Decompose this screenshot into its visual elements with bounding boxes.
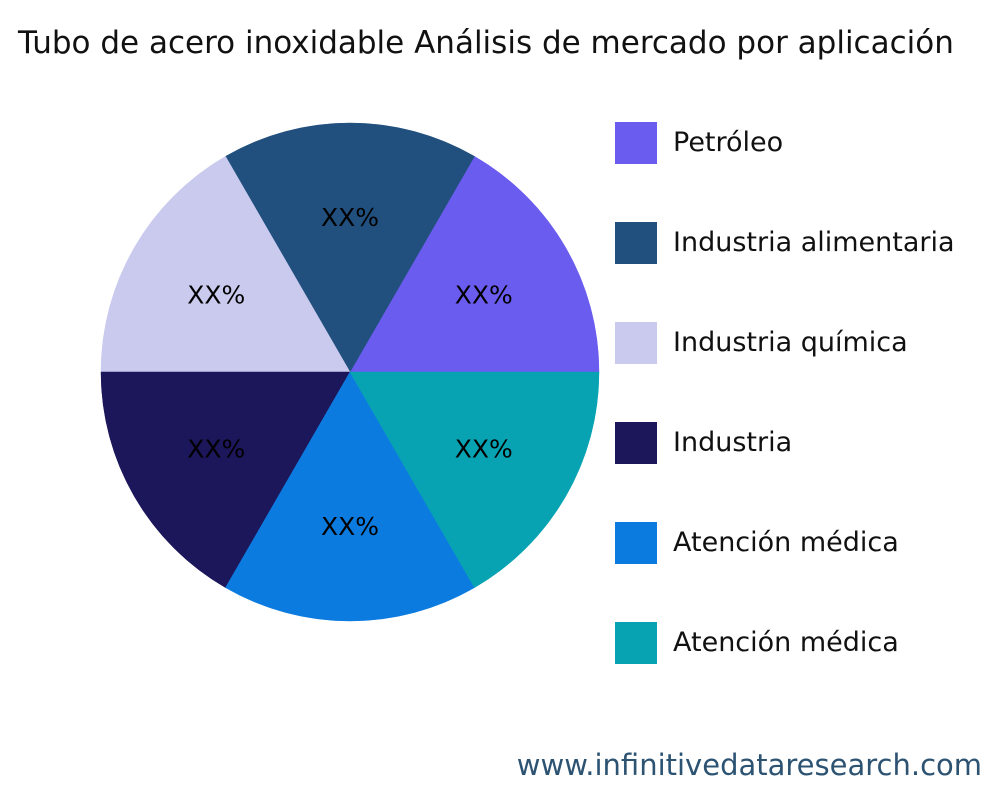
legend-label-1: Industria alimentaria [673,218,955,268]
pie-plot-area: XX%XX%XX%XX%XX%XX% [100,122,600,622]
pie-chart-figure: Tubo de acero inoxidable Análisis de mer… [0,0,1000,800]
legend-label-4: Atención médica [673,518,899,568]
legend-item-industria[interactable]: Industria [615,418,1000,518]
legend-label-0: Petróleo [673,118,783,168]
pie-slice-percent-label: XX% [187,435,245,464]
pie-svg: XX%XX%XX%XX%XX%XX% [100,122,600,622]
legend: Petróleo Industria alimentaria Industria… [615,118,1000,718]
legend-swatch-icon-2 [615,322,657,364]
pie-slice-percent-label: XX% [187,280,245,309]
legend-item-industria-quimica[interactable]: Industria química [615,318,1000,418]
pie-slice-percent-label: XX% [455,280,513,309]
pie-slice-percent-label: XX% [455,435,513,464]
page-title: Tubo de acero inoxidable Análisis de mer… [18,24,1000,62]
legend-item-industria-alimentaria[interactable]: Industria alimentaria [615,218,1000,318]
legend-swatch-icon-5 [615,622,657,664]
legend-swatch-icon-4 [615,522,657,564]
pie-slice-percent-label: XX% [321,203,379,232]
legend-label-5: Atención médica [673,618,899,668]
legend-label-2: Industria química [673,318,908,368]
legend-swatch-icon-1 [615,222,657,264]
legend-swatch-icon-3 [615,422,657,464]
legend-item-petroleo[interactable]: Petróleo [615,118,1000,218]
legend-label-3: Industria [673,418,792,468]
legend-item-atencion-medica-2[interactable]: Atención médica [615,618,1000,718]
pie-slices-group [101,123,599,621]
pie-slice-percent-label: XX% [321,512,379,541]
legend-item-atencion-medica-1[interactable]: Atención médica [615,518,1000,618]
source-url[interactable]: www.infinitivedataresearch.com [0,748,982,782]
legend-swatch-icon-0 [615,122,657,164]
